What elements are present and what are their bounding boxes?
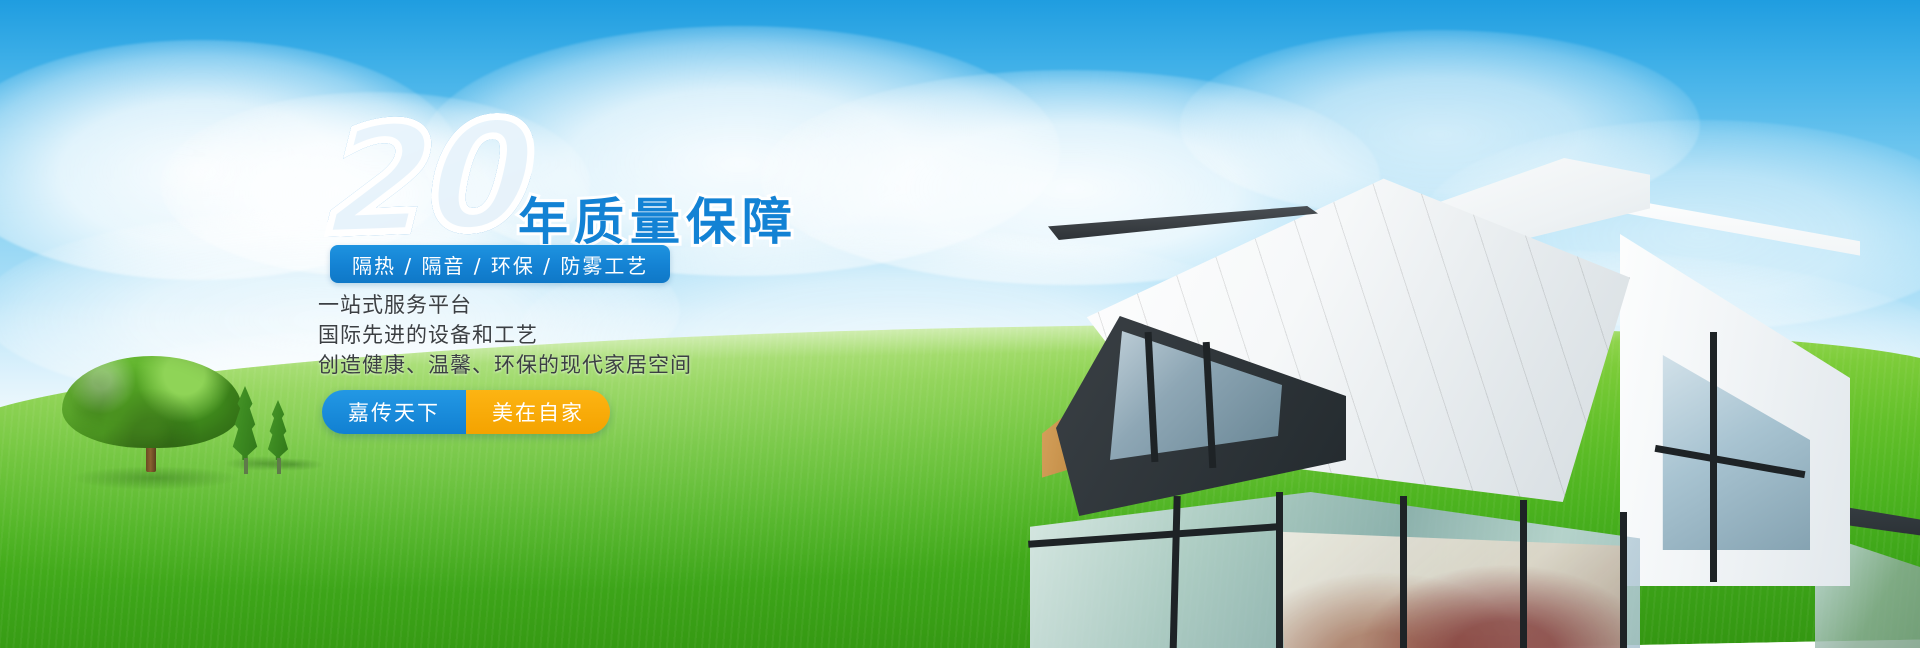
cypress-trunk [244,458,248,474]
window-mullion [1400,496,1407,648]
cypress-foliage [228,386,262,460]
cypress-tree-icon [264,400,292,460]
window-mullion [1620,512,1627,648]
promo-banner: 20 年质量保障 隔热 / 隔音 / 环保 / 防雾工艺 一站式服务平台 国际先… [0,0,1920,648]
glass-sunroom-illustration [1020,140,1920,648]
cta-button-group[interactable]: 嘉传天下 美在自家 [322,390,610,434]
feature-pill-label: 隔热 / 隔音 / 环保 / 防雾工艺 [352,250,648,279]
description-line-1: 一站式服务平台 [318,290,692,320]
years-number-text: 20 [325,89,535,270]
cta-secondary-button[interactable]: 美在自家 [466,390,610,434]
cypress-foliage [264,400,292,460]
cypress-tree-icon [228,386,262,460]
tree-canopy [62,356,242,448]
cypress-trunk [277,458,281,474]
window-mullion [1520,500,1527,648]
cta-primary-button[interactable]: 嘉传天下 [322,390,466,434]
window-mullion [1276,492,1283,648]
quality-guarantee-slogan: 年质量保障 [518,182,798,254]
deciduous-tree-icon [62,356,242,474]
description-line-2: 国际先进的设备和工艺 [318,320,692,350]
description-block: 一站式服务平台 国际先进的设备和工艺 创造健康、温馨、环保的现代家居空间 [318,290,692,380]
description-line-3: 创造健康、温馨、环保的现代家居空间 [318,350,692,380]
feature-pill-badge: 隔热 / 隔音 / 环保 / 防雾工艺 [330,245,670,283]
years-number: 20 [326,101,535,258]
